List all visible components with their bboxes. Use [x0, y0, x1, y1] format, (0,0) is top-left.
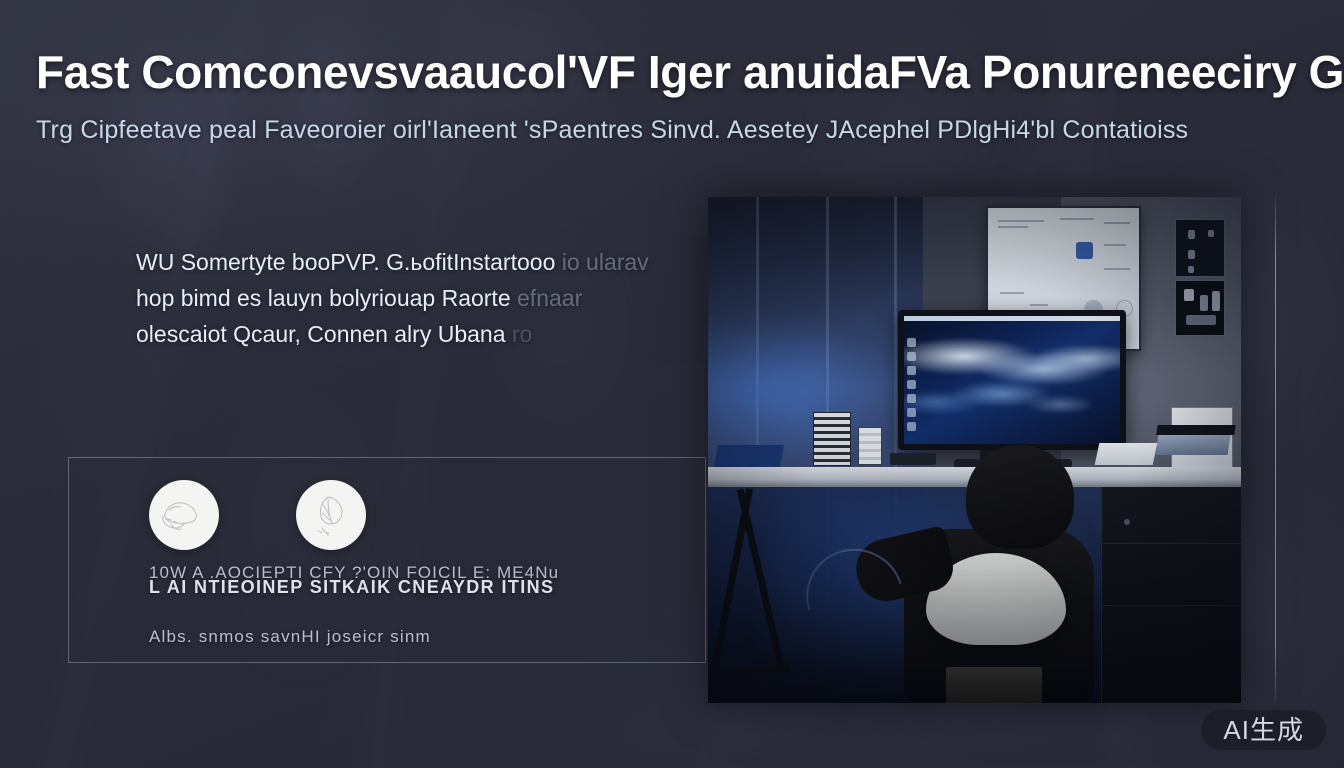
body-line-main: hop bimd es lauyn bolyriouap Raorte [136, 285, 517, 311]
page-title: Fast Comconevsvaaucol'VF Iger anuidaFVa … [36, 48, 1344, 98]
page-subtitle: Trg Cipfeetave peal Faveoroier oirl'Iane… [36, 116, 1344, 145]
body-line-faded: ro [506, 321, 533, 347]
right-accent-rule [1275, 197, 1276, 703]
hand-drawn-shape-icon [149, 480, 219, 550]
body-line: olescaiot Qcaur, Connen alry Ubana ro [136, 316, 736, 352]
body-line-faded: io ularav [562, 249, 649, 275]
card-overlapping-lines: 10W A .AOCIEPTI CFY ?'OIN FOICIL E: ME4N… [149, 563, 669, 607]
slide-canvas: Fast Comconevsvaaucol'VF Iger anuidaFVa … [0, 0, 1344, 768]
card-icon-row [149, 480, 366, 550]
body-line: hop bimd es lauyn bolyriouap Raorte efna… [136, 280, 736, 316]
body-line-faded: efnaar [517, 285, 582, 311]
card-caption-lower: L AI NTIEOINEP SITKAIK CNEAYDR ITINS [149, 577, 554, 598]
body-copy-block: WU Somertyte booPVP. G.ьofitInstartooo i… [136, 244, 736, 352]
body-line-main: WU Somertyte booPVP. G.ьofitInstartooo [136, 249, 562, 275]
office-photo [708, 197, 1241, 703]
feature-card: 10W A .AOCIEPTI CFY ?'OIN FOICIL E: ME4N… [68, 457, 706, 663]
body-line: WU Somertyte booPVP. G.ьofitInstartooo i… [136, 244, 736, 280]
ai-generated-watermark: AI生成 [1201, 710, 1326, 750]
card-subcaption: Albs. snmos savnHI joseicr sinm [149, 627, 669, 647]
hand-drawn-leaf-icon [296, 480, 366, 550]
heading-group: Fast Comconevsvaaucol'VF Iger anuidaFVa … [36, 48, 1344, 145]
card-text-block: 10W A .AOCIEPTI CFY ?'OIN FOICIL E: ME4N… [149, 563, 669, 647]
body-line-main: olescaiot Qcaur, Connen alry Ubana [136, 321, 506, 347]
photo-vignette [708, 197, 1241, 703]
